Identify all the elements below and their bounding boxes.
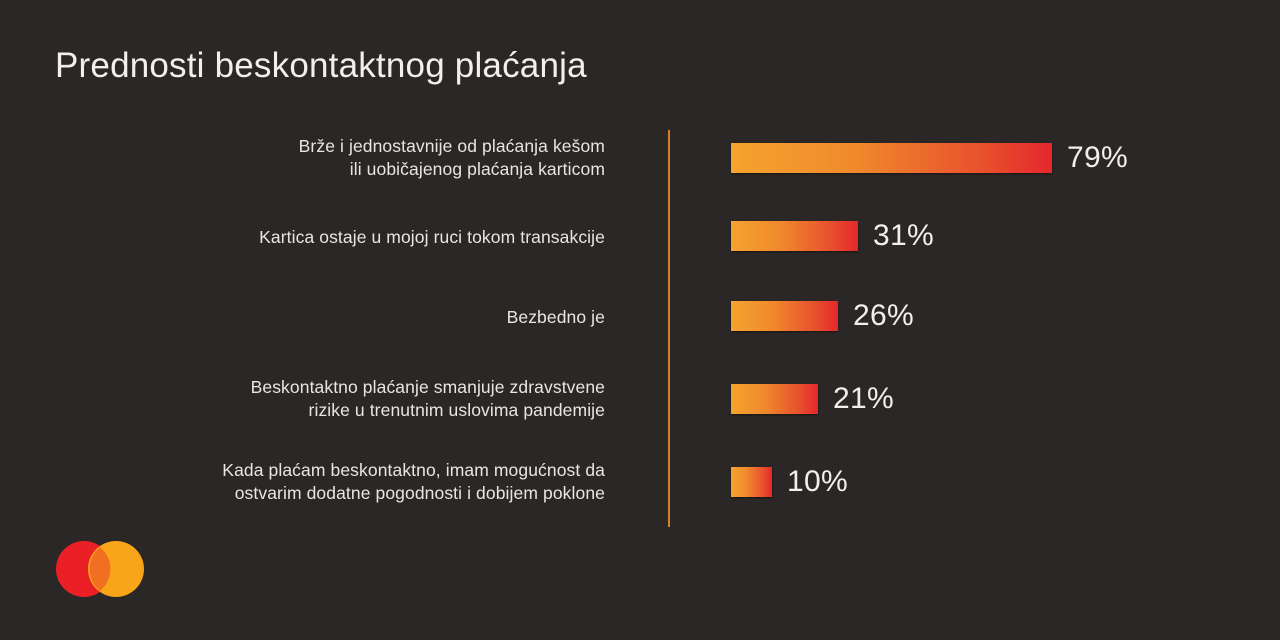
- bar-track: 26%: [731, 301, 838, 331]
- bar-fill: [731, 143, 1052, 173]
- row-label-line2: rizike u trenutnim uslovima pandemije: [45, 399, 605, 422]
- bar-fill: [731, 221, 858, 251]
- bar-track: 10%: [731, 467, 772, 497]
- row-label-line2: ostvarim dodatne pogodnosti i dobijem po…: [45, 482, 605, 505]
- bar-track: 79%: [731, 143, 1052, 173]
- row-label-line1: Brže i jednostavnije od plaćanja kešom: [299, 136, 605, 156]
- vertical-divider: [668, 130, 670, 527]
- row-label-line1: Kartica ostaje u mojoj ruci tokom transa…: [259, 227, 605, 247]
- row-label-line1: Kada plaćam beskontaktno, imam mogućnost…: [222, 460, 605, 480]
- infographic-canvas: Prednosti beskontaktnog plaćanja Brže i …: [0, 0, 1280, 640]
- bar-value: 10%: [787, 465, 848, 499]
- row-label-line2: ili uobičajenog plaćanja karticom: [45, 158, 605, 181]
- row-label: Beskontaktno plaćanje smanjuje zdravstve…: [45, 376, 605, 422]
- row-label-line1: Beskontaktno plaćanje smanjuje zdravstve…: [251, 377, 605, 397]
- bar-fill: [731, 467, 772, 497]
- row-label: Brže i jednostavnije od plaćanja kešom i…: [45, 135, 605, 181]
- bar-value: 79%: [1067, 141, 1128, 175]
- bar-value: 26%: [853, 299, 914, 333]
- row-label: Bezbedno je: [45, 306, 605, 329]
- bar-fill: [731, 384, 818, 414]
- mastercard-logo: [56, 541, 144, 597]
- bar-value: 21%: [833, 382, 894, 416]
- bar-track: 31%: [731, 221, 858, 251]
- row-label: Kada plaćam beskontaktno, imam mogućnost…: [45, 459, 605, 505]
- page-title: Prednosti beskontaktnog plaćanja: [55, 46, 587, 86]
- row-label-line1: Bezbedno je: [507, 307, 605, 327]
- bar-track: 21%: [731, 384, 818, 414]
- bar-fill: [731, 301, 838, 331]
- row-label: Kartica ostaje u mojoj ruci tokom transa…: [45, 226, 605, 249]
- bar-value: 31%: [873, 219, 934, 253]
